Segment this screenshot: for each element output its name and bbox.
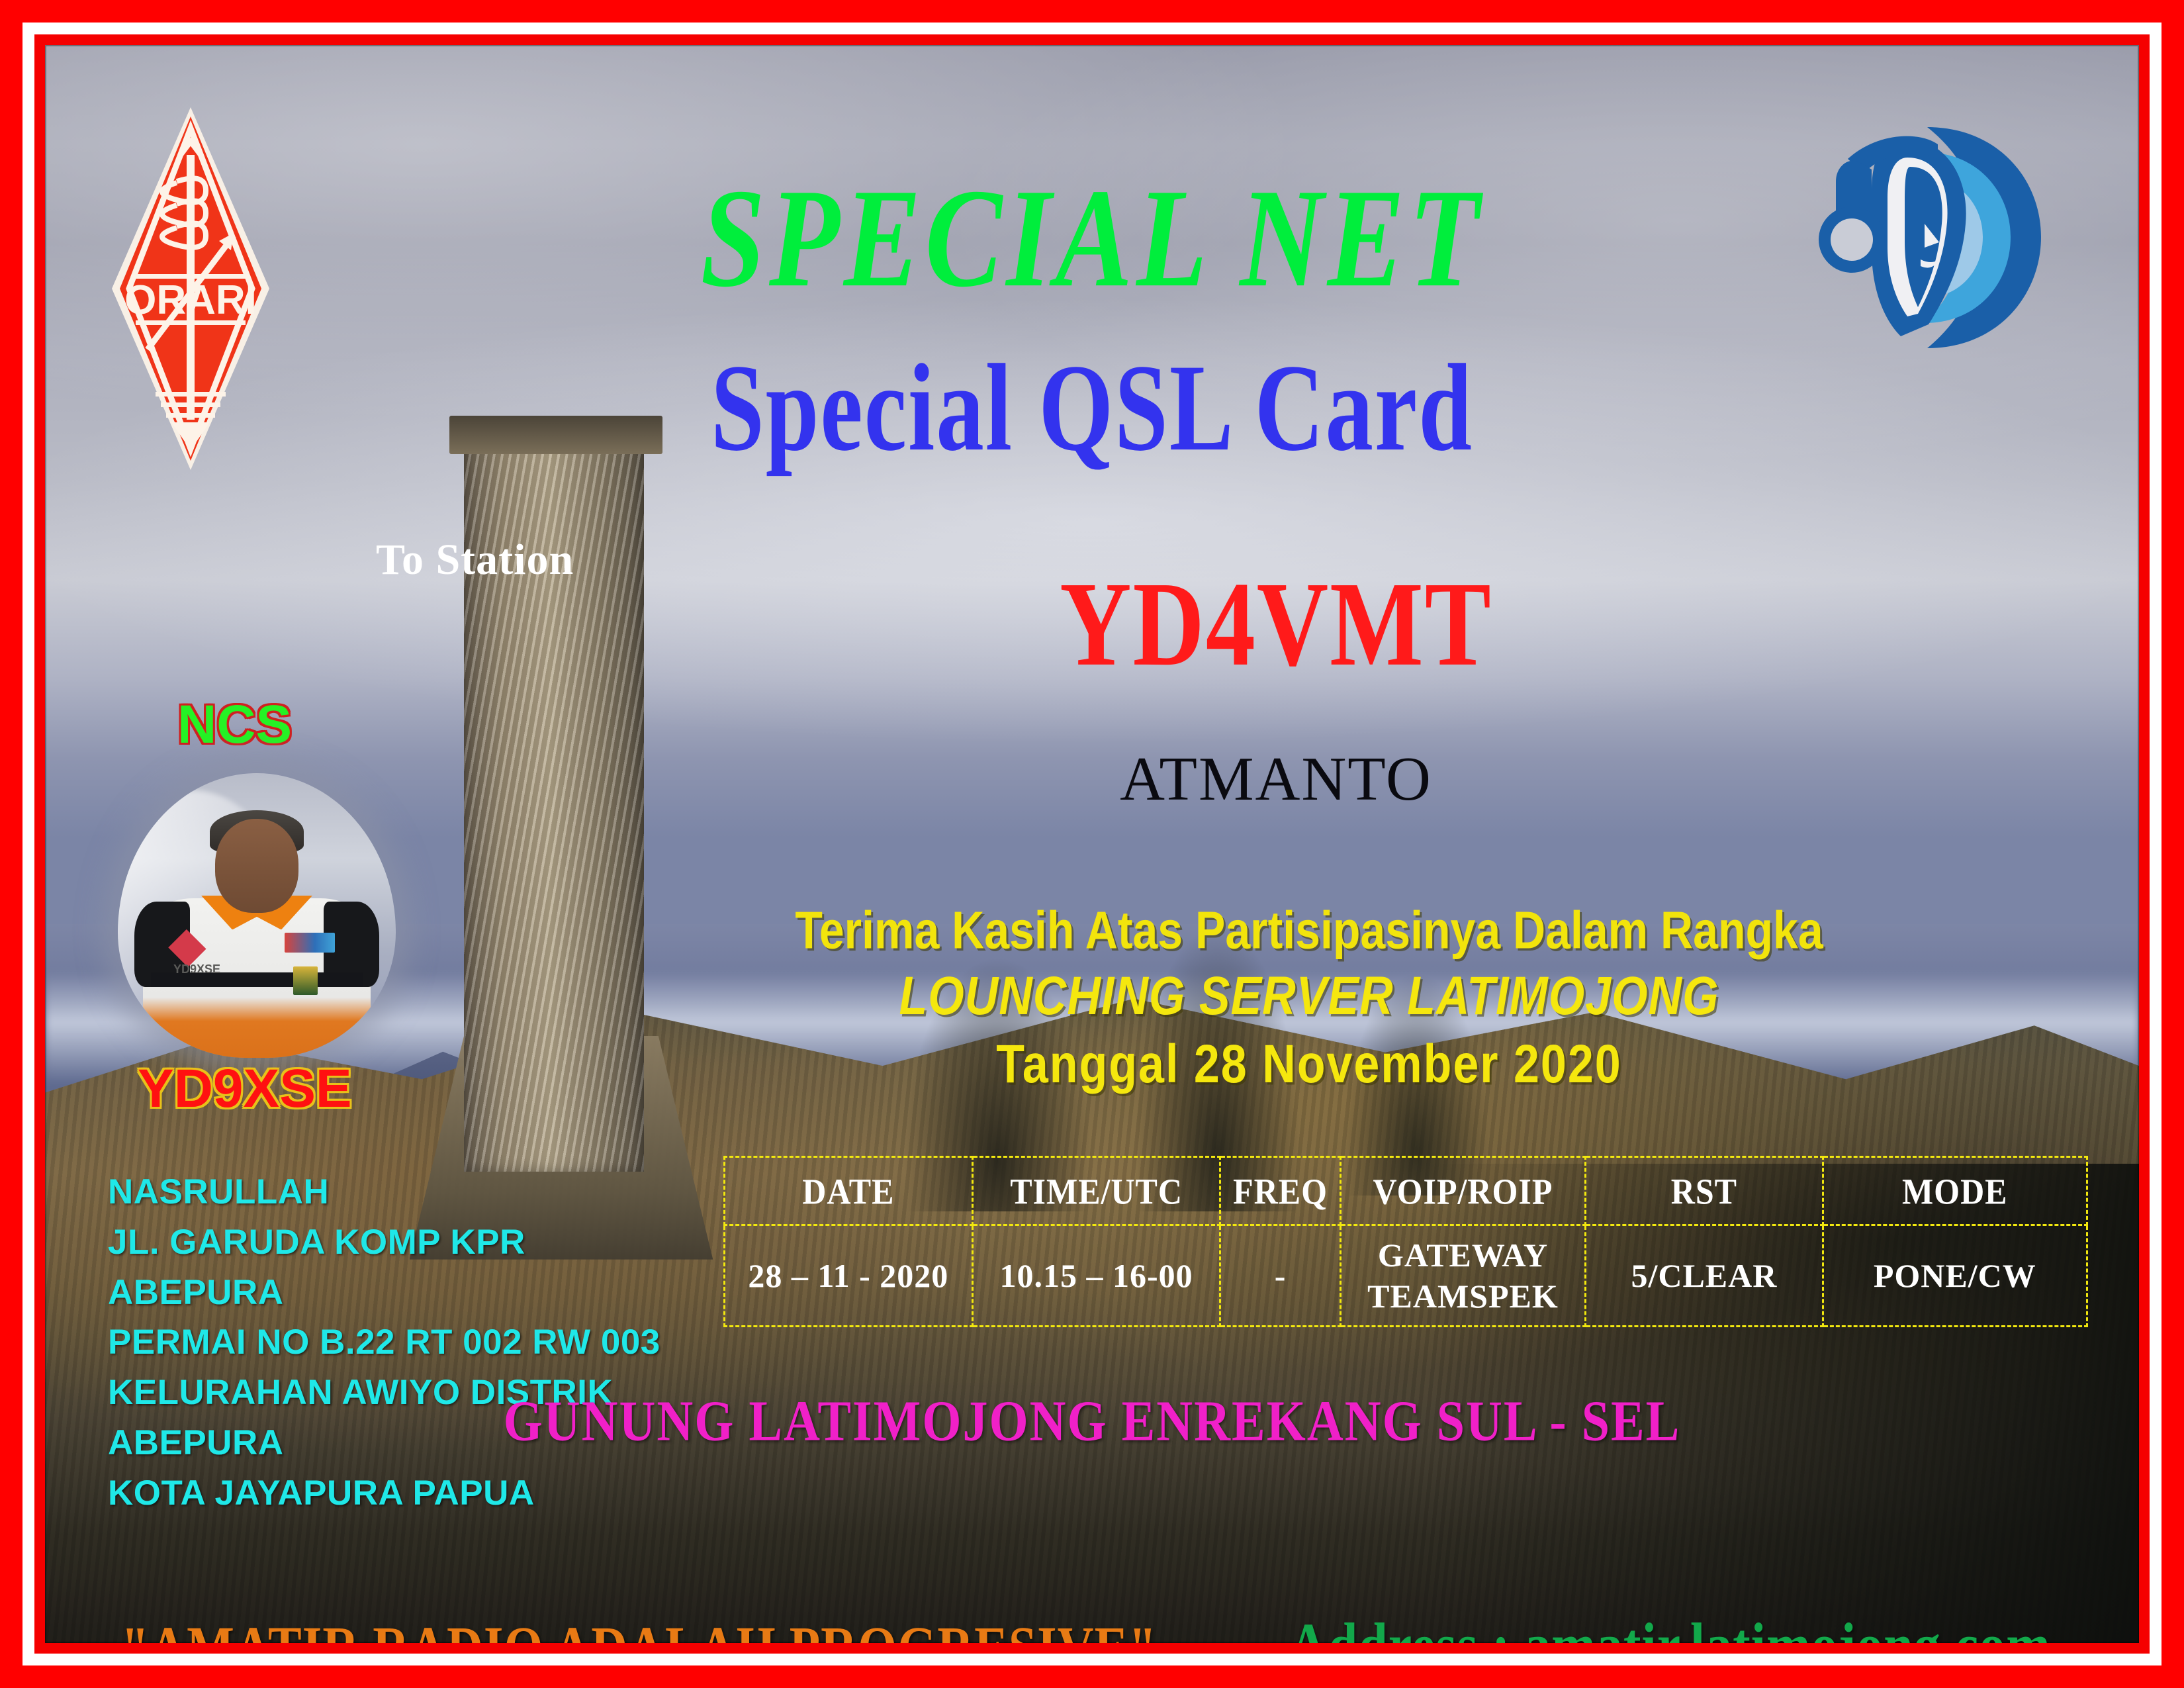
ncs-callsign: YD9XSE <box>138 1058 352 1120</box>
photo-face <box>215 819 298 913</box>
footer-slogan: "AMATIR RADIO ADALAH PROGRESIVE" <box>121 1614 1157 1643</box>
column-header-voip-roip: VOIP/ROIP <box>1340 1153 1586 1228</box>
column-header-time-utc: TIME/UTC <box>972 1153 1220 1228</box>
heading-special-net: SPECIAL NET <box>45 167 2139 309</box>
ncs-label: NCS <box>177 694 292 756</box>
photo-uniform-badge <box>285 933 335 953</box>
table-row: 28 – 11 - 2020 10.15 – 16-00 - GATEWAY T… <box>725 1225 2087 1327</box>
thanks-line-2-event: LOUNCHING SERVER LATIMOJONG <box>747 966 1872 1025</box>
cell-voip-roip-line2: TEAMSPEK <box>1342 1276 1585 1317</box>
cell-voip-roip-line1: GATEWAY <box>1342 1235 1585 1276</box>
to-station-label: To Station <box>376 535 574 585</box>
cell-date: 28 – 11 - 2020 <box>725 1225 973 1327</box>
photo-id-card <box>293 966 318 995</box>
ncs-operator-photo: YD9XSE <box>118 773 396 1058</box>
address-line: ABEPURA <box>108 1268 660 1318</box>
cell-freq: - <box>1220 1225 1340 1327</box>
cell-time-utc: 10.15 – 16-00 <box>972 1225 1220 1327</box>
qsl-card-white-band: ORARI <box>23 23 2161 1665</box>
address-line: KOTA JAYAPURA PAPUA <box>108 1468 660 1519</box>
thanks-line-3-date: Tanggal 28 November 2020 <box>747 1035 1872 1094</box>
cell-voip-roip: GATEWAY TEAMSPEK <box>1340 1225 1586 1327</box>
thanks-line-1: Terima Kasih Atas Partisipasinya Dalam R… <box>747 899 1872 962</box>
table-header-row: DATE TIME/UTC FREQ VOIP/ROIP RST MODE <box>725 1157 2087 1225</box>
thanks-block: Terima Kasih Atas Partisipasinya Dalam R… <box>747 899 1872 1086</box>
qso-log-table: DATE TIME/UTC FREQ VOIP/ROIP RST MODE 28… <box>723 1156 2088 1327</box>
footer-website-address: Address : amatir.latimojong.com <box>1289 1611 2051 1643</box>
column-header-rst: RST <box>1586 1153 1823 1228</box>
address-block: NASRULLAH JL. GARUDA KOMP KPR ABEPURA PE… <box>108 1167 660 1518</box>
cell-rst: 5/CLEAR <box>1586 1225 1823 1327</box>
column-header-mode: MODE <box>1823 1153 2087 1228</box>
column-header-freq: FREQ <box>1220 1153 1340 1228</box>
address-line: JL. GARUDA KOMP KPR <box>108 1217 660 1268</box>
heading-special-qsl-card: Special QSL Card <box>45 346 2139 471</box>
station-callsign: YD4VMT <box>813 555 1739 694</box>
operator-name: ATMANTO <box>813 743 1739 815</box>
cell-mode: PONE/CW <box>1823 1225 2087 1327</box>
background-photo-mountain-summit: ORARI <box>45 45 2139 1643</box>
qsl-card-outer-frame: ORARI <box>0 0 2184 1688</box>
column-header-date: DATE <box>725 1153 973 1228</box>
location-caption: GUNUNG LATIMOJONG ENREKANG SUL - SEL <box>45 1389 2139 1454</box>
content-layer: ORARI <box>45 45 2139 1643</box>
photo-shirt-callsign: YD9XSE <box>173 962 220 976</box>
address-line: PERMAI NO B.22 RT 002 RW 003 <box>108 1317 660 1368</box>
address-line: NASRULLAH <box>108 1167 660 1217</box>
qsl-card-inner-red-frame: ORARI <box>34 34 2150 1654</box>
